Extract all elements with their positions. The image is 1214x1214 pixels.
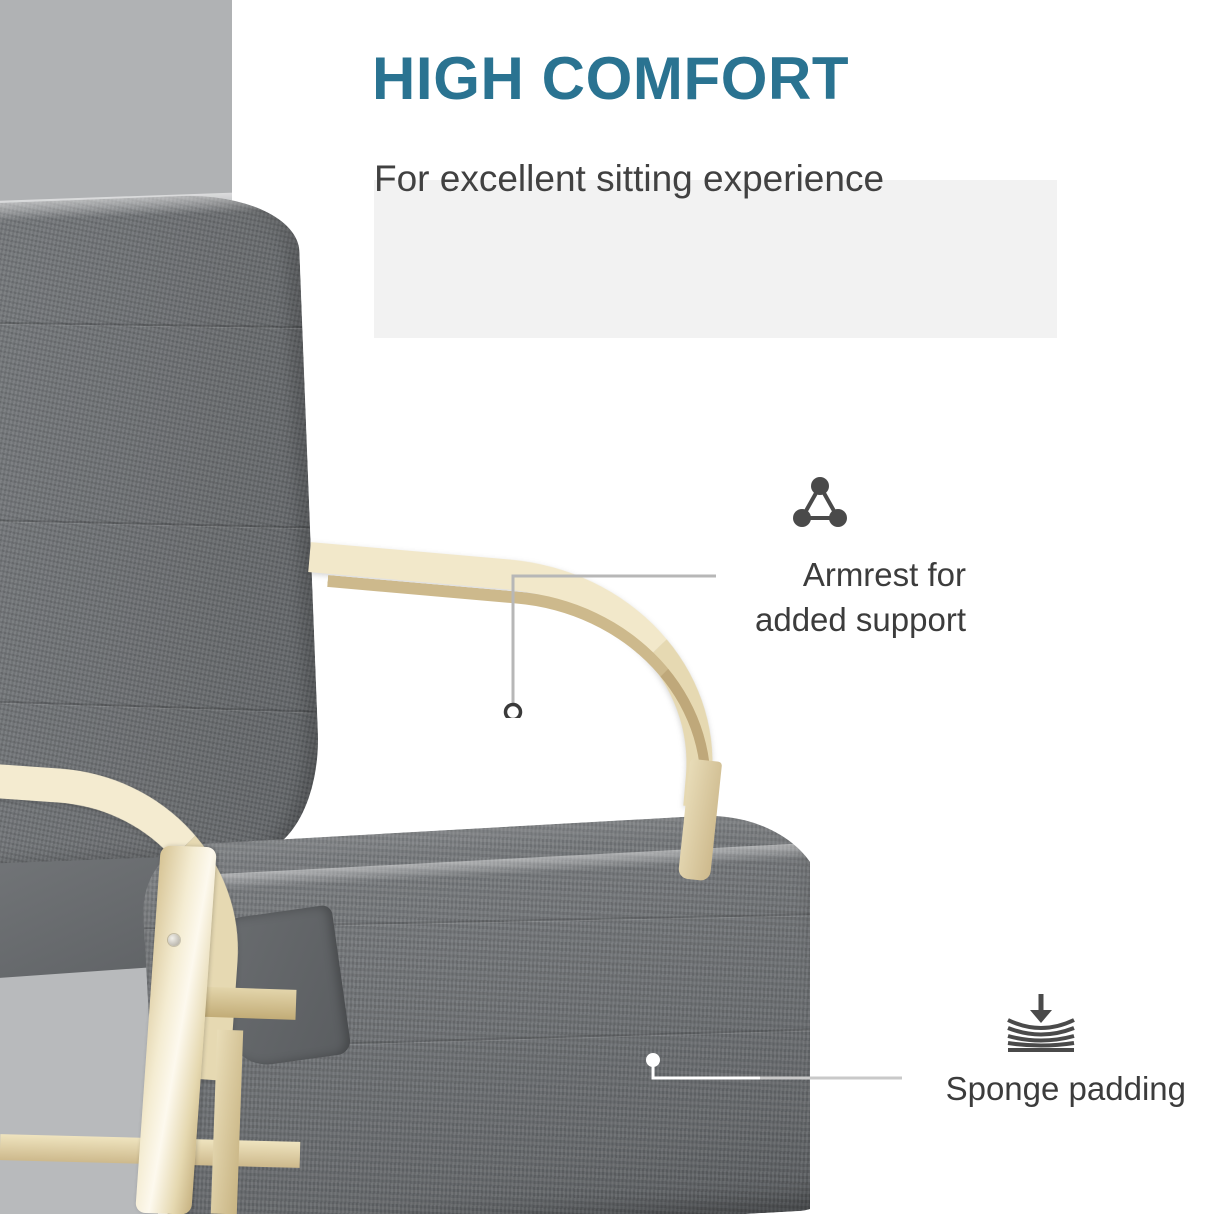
down-arrow-compression-icon bbox=[1002, 992, 1080, 1054]
leader-line-sponge-padding bbox=[640, 1046, 902, 1086]
headline-backdrop-card bbox=[374, 180, 1057, 338]
product-feature-banner: HIGH COMFORT For excellent sitting exper… bbox=[0, 0, 1214, 1214]
page-title: HIGH COMFORT bbox=[372, 44, 849, 113]
quilt-seam bbox=[0, 318, 302, 328]
page-subtitle: For excellent sitting experience bbox=[374, 158, 884, 200]
quilt-seam bbox=[0, 693, 316, 713]
leader-line-armrest bbox=[500, 566, 716, 718]
quilt-seam bbox=[0, 514, 310, 529]
leader-endpoint-marker-sponge-padding bbox=[646, 1053, 660, 1067]
triangle-three-dots-icon bbox=[788, 474, 852, 532]
leader-endpoint-marker-armrest bbox=[506, 705, 521, 719]
leg-screw bbox=[168, 934, 180, 946]
